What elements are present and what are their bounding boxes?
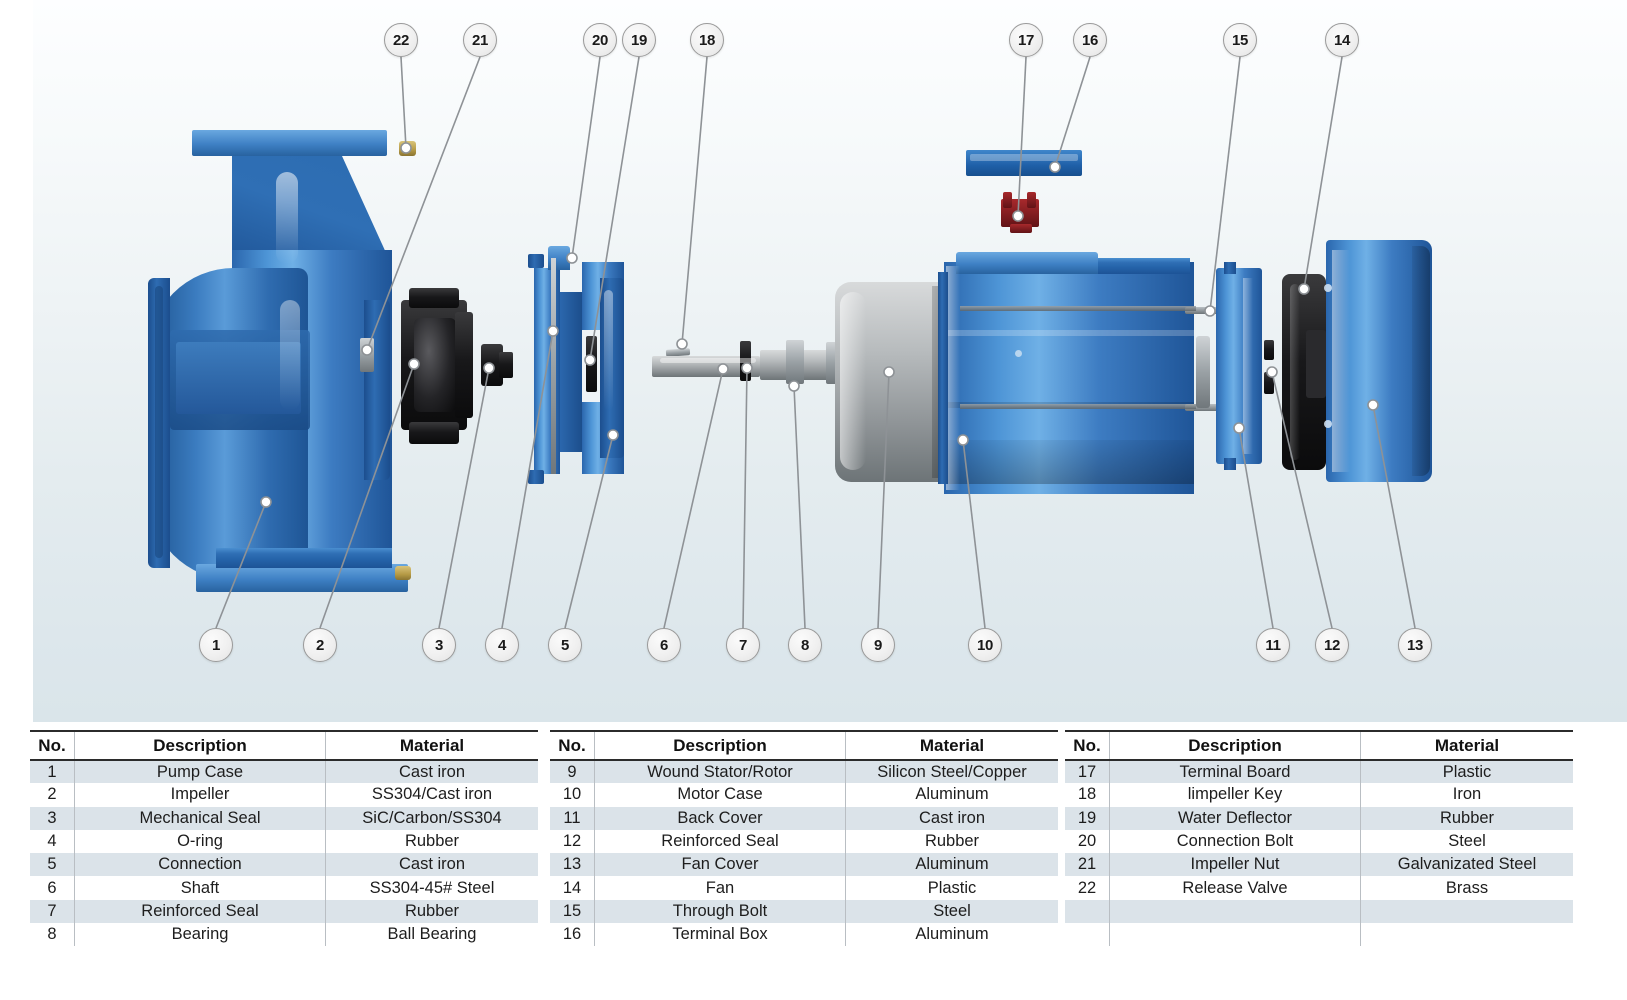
pump-exploded-diagram-page: 22 21 20 19 18 17 16 15 14 1 2 3 4 5 6 7… (0, 0, 1627, 1000)
table-row: 5ConnectionCast iron (30, 853, 538, 876)
callout-10[interactable]: 10 (968, 628, 1002, 662)
table-left: No. Description Material 1Pump CaseCast … (30, 730, 538, 946)
table-row-empty (1065, 923, 1573, 946)
cell-material: Brass (1361, 876, 1574, 899)
table-middle: No. Description Material 9Wound Stator/R… (550, 730, 1058, 946)
callout-18[interactable]: 18 (690, 23, 724, 57)
col-header-desc: Description (1110, 731, 1361, 760)
table-row-empty (1065, 900, 1573, 923)
col-header-desc: Description (595, 731, 846, 760)
cell-desc (1110, 923, 1361, 946)
cell-material: Rubber (1361, 807, 1574, 830)
cell-no: 10 (550, 783, 595, 806)
cell-material: Aluminum (846, 853, 1059, 876)
table-row: 11Back CoverCast iron (550, 807, 1058, 830)
cell-desc: Mechanical Seal (75, 807, 326, 830)
cell-no: 19 (1065, 807, 1110, 830)
cell-no: 4 (30, 830, 75, 853)
cell-material: Ball Bearing (326, 923, 539, 946)
callout-20[interactable]: 20 (583, 23, 617, 57)
cell-material: Cast iron (326, 853, 539, 876)
cell-no (1065, 923, 1110, 946)
callout-13[interactable]: 13 (1398, 628, 1432, 662)
callout-3[interactable]: 3 (422, 628, 456, 662)
release-valve-art (399, 141, 416, 156)
table-row: 14FanPlastic (550, 876, 1058, 899)
col-header-material: Material (846, 731, 1059, 760)
cell-material: SS304/Cast iron (326, 783, 539, 806)
cell-desc: Fan (595, 876, 846, 899)
cell-material (1361, 900, 1574, 923)
table-row: 19Water DeflectorRubber (1065, 807, 1573, 830)
cell-material: Steel (1361, 830, 1574, 853)
cell-no: 8 (30, 923, 75, 946)
cell-no: 12 (550, 830, 595, 853)
table-row: 18limpeller KeyIron (1065, 783, 1573, 806)
cell-material: Rubber (846, 830, 1059, 853)
cell-desc: Pump Case (75, 760, 326, 783)
table-row: 22Release ValveBrass (1065, 876, 1573, 899)
cell-desc: O-ring (75, 830, 326, 853)
cell-no: 13 (550, 853, 595, 876)
callout-15[interactable]: 15 (1223, 23, 1257, 57)
callout-16[interactable]: 16 (1073, 23, 1107, 57)
cell-desc: Wound Stator/Rotor (595, 760, 846, 783)
cell-desc: Back Cover (595, 807, 846, 830)
water-deflector-art (586, 336, 597, 392)
cell-no: 2 (30, 783, 75, 806)
cell-no: 18 (1065, 783, 1110, 806)
table-row: 17Terminal BoardPlastic (1065, 760, 1573, 783)
cell-material: SiC/Carbon/SS304 (326, 807, 539, 830)
cell-material: Steel (846, 900, 1059, 923)
table-row: 8BearingBall Bearing (30, 923, 538, 946)
cell-material: Galvanizated Steel (1361, 853, 1574, 876)
table-row: 10Motor CaseAluminum (550, 783, 1058, 806)
col-header-no: No. (1065, 731, 1110, 760)
cell-desc: Terminal Board (1110, 760, 1361, 783)
cell-desc: limpeller Key (1110, 783, 1361, 806)
callout-22[interactable]: 22 (384, 23, 418, 57)
cell-material: Aluminum (846, 783, 1059, 806)
illustration-stage: 22 21 20 19 18 17 16 15 14 1 2 3 4 5 6 7… (0, 0, 1627, 722)
col-header-desc: Description (75, 731, 326, 760)
cell-no: 16 (550, 923, 595, 946)
cell-desc: Reinforced Seal (595, 830, 846, 853)
callout-8[interactable]: 8 (788, 628, 822, 662)
table-row: 4O-ringRubber (30, 830, 538, 853)
table-row: 21Impeller NutGalvanizated Steel (1065, 853, 1573, 876)
connection-bolt-art (551, 258, 556, 474)
bearing-art (786, 340, 804, 384)
cell-no: 1 (30, 760, 75, 783)
cell-material: Cast iron (326, 760, 539, 783)
cell-material: Iron (1361, 783, 1574, 806)
cell-no: 9 (550, 760, 595, 783)
cell-material: Plastic (846, 876, 1059, 899)
table-row: 12Reinforced SealRubber (550, 830, 1058, 853)
cell-material: SS304-45# Steel (326, 876, 539, 899)
callout-7[interactable]: 7 (726, 628, 760, 662)
cell-desc: Impeller Nut (1110, 853, 1361, 876)
table-row: 15Through BoltSteel (550, 900, 1058, 923)
cell-desc: Impeller (75, 783, 326, 806)
callout-2[interactable]: 2 (303, 628, 337, 662)
cell-material: Aluminum (846, 923, 1059, 946)
parts-tables: No. Description Material 1Pump CaseCast … (0, 722, 1627, 1000)
cell-material: Plastic (1361, 760, 1574, 783)
cell-material: Rubber (326, 830, 539, 853)
cell-no: 20 (1065, 830, 1110, 853)
cell-desc: Terminal Box (595, 923, 846, 946)
table-row: 6ShaftSS304-45# Steel (30, 876, 538, 899)
col-header-no: No. (550, 731, 595, 760)
col-header-material: Material (1361, 731, 1574, 760)
cell-no: 15 (550, 900, 595, 923)
callout-17[interactable]: 17 (1009, 23, 1043, 57)
callout-11[interactable]: 11 (1256, 628, 1290, 662)
cell-desc: Release Valve (1110, 876, 1361, 899)
table-row: 1Pump CaseCast iron (30, 760, 538, 783)
cell-no: 6 (30, 876, 75, 899)
cell-no: 21 (1065, 853, 1110, 876)
cell-no: 3 (30, 807, 75, 830)
callout-12[interactable]: 12 (1315, 628, 1349, 662)
table-row: 9Wound Stator/RotorSilicon Steel/Copper (550, 760, 1058, 783)
table-row: 2ImpellerSS304/Cast iron (30, 783, 538, 806)
cell-desc (1110, 900, 1361, 923)
table-row: 13Fan CoverAluminum (550, 853, 1058, 876)
cell-desc: Shaft (75, 876, 326, 899)
cell-material: Rubber (326, 900, 539, 923)
callout-1[interactable]: 1 (199, 628, 233, 662)
col-header-no: No. (30, 731, 75, 760)
cell-material (1361, 923, 1574, 946)
callout-19[interactable]: 19 (622, 23, 656, 57)
table-row: 3Mechanical SealSiC/Carbon/SS304 (30, 807, 538, 830)
cell-desc: Connection (75, 853, 326, 876)
col-header-material: Material (326, 731, 539, 760)
table-row: 16Terminal BoxAluminum (550, 923, 1058, 946)
cell-desc: Connection Bolt (1110, 830, 1361, 853)
callout-21[interactable]: 21 (463, 23, 497, 57)
exploded-artwork (0, 0, 1627, 722)
callout-9[interactable]: 9 (861, 628, 895, 662)
callout-4[interactable]: 4 (485, 628, 519, 662)
cell-material: Cast iron (846, 807, 1059, 830)
table-row: 7Reinforced SealRubber (30, 900, 538, 923)
cell-desc: Reinforced Seal (75, 900, 326, 923)
cell-no: 7 (30, 900, 75, 923)
cell-no: 14 (550, 876, 595, 899)
cell-no: 22 (1065, 876, 1110, 899)
cell-no (1065, 900, 1110, 923)
table-row: 20Connection BoltSteel (1065, 830, 1573, 853)
cell-no: 17 (1065, 760, 1110, 783)
callout-6[interactable]: 6 (647, 628, 681, 662)
cell-desc: Fan Cover (595, 853, 846, 876)
cell-desc: Bearing (75, 923, 326, 946)
callout-5[interactable]: 5 (548, 628, 582, 662)
cell-material: Silicon Steel/Copper (846, 760, 1059, 783)
callout-14[interactable]: 14 (1325, 23, 1359, 57)
cell-desc: Through Bolt (595, 900, 846, 923)
impeller-nut-art (360, 338, 374, 372)
cell-no: 11 (550, 807, 595, 830)
release-valve-lower-art (395, 566, 411, 580)
cell-no: 5 (30, 853, 75, 876)
cell-desc: Water Deflector (1110, 807, 1361, 830)
table-right: No. Description Material 17Terminal Boar… (1065, 730, 1573, 946)
cell-desc: Motor Case (595, 783, 846, 806)
